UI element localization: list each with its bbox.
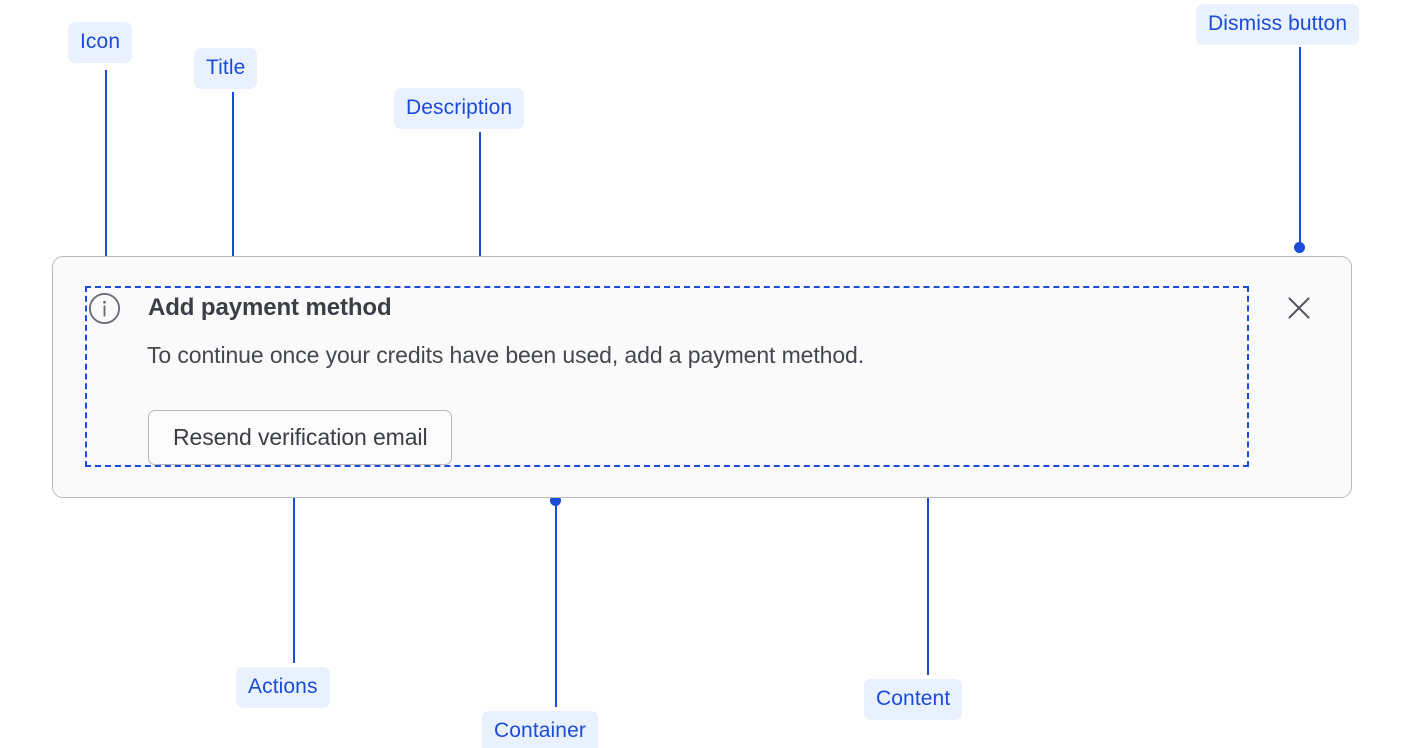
close-icon[interactable] bbox=[1283, 292, 1315, 324]
anatomy-diagram: Icon Title Description Dismiss button Ac… bbox=[0, 0, 1408, 748]
resend-verification-email-button[interactable]: Resend verification email bbox=[148, 410, 452, 465]
leader-line-content bbox=[927, 470, 929, 675]
alert-description: To continue once your credits have been … bbox=[147, 342, 864, 369]
leader-dot-dismiss-button bbox=[1294, 242, 1305, 253]
alert-title: Add payment method bbox=[148, 294, 392, 322]
leader-line-icon bbox=[105, 70, 107, 272]
annotation-label-description: Description bbox=[394, 88, 524, 129]
annotation-label-actions: Actions bbox=[236, 667, 330, 708]
annotation-label-content: Content bbox=[864, 679, 962, 720]
annotation-label-title: Title bbox=[194, 48, 257, 89]
annotation-label-icon: Icon bbox=[68, 22, 132, 63]
leader-line-container bbox=[555, 504, 557, 707]
annotation-label-container: Container bbox=[482, 711, 598, 748]
annotation-label-dismiss-button: Dismiss button bbox=[1196, 4, 1359, 45]
info-circle-icon bbox=[88, 292, 121, 325]
leader-line-dismiss-button bbox=[1299, 47, 1301, 249]
